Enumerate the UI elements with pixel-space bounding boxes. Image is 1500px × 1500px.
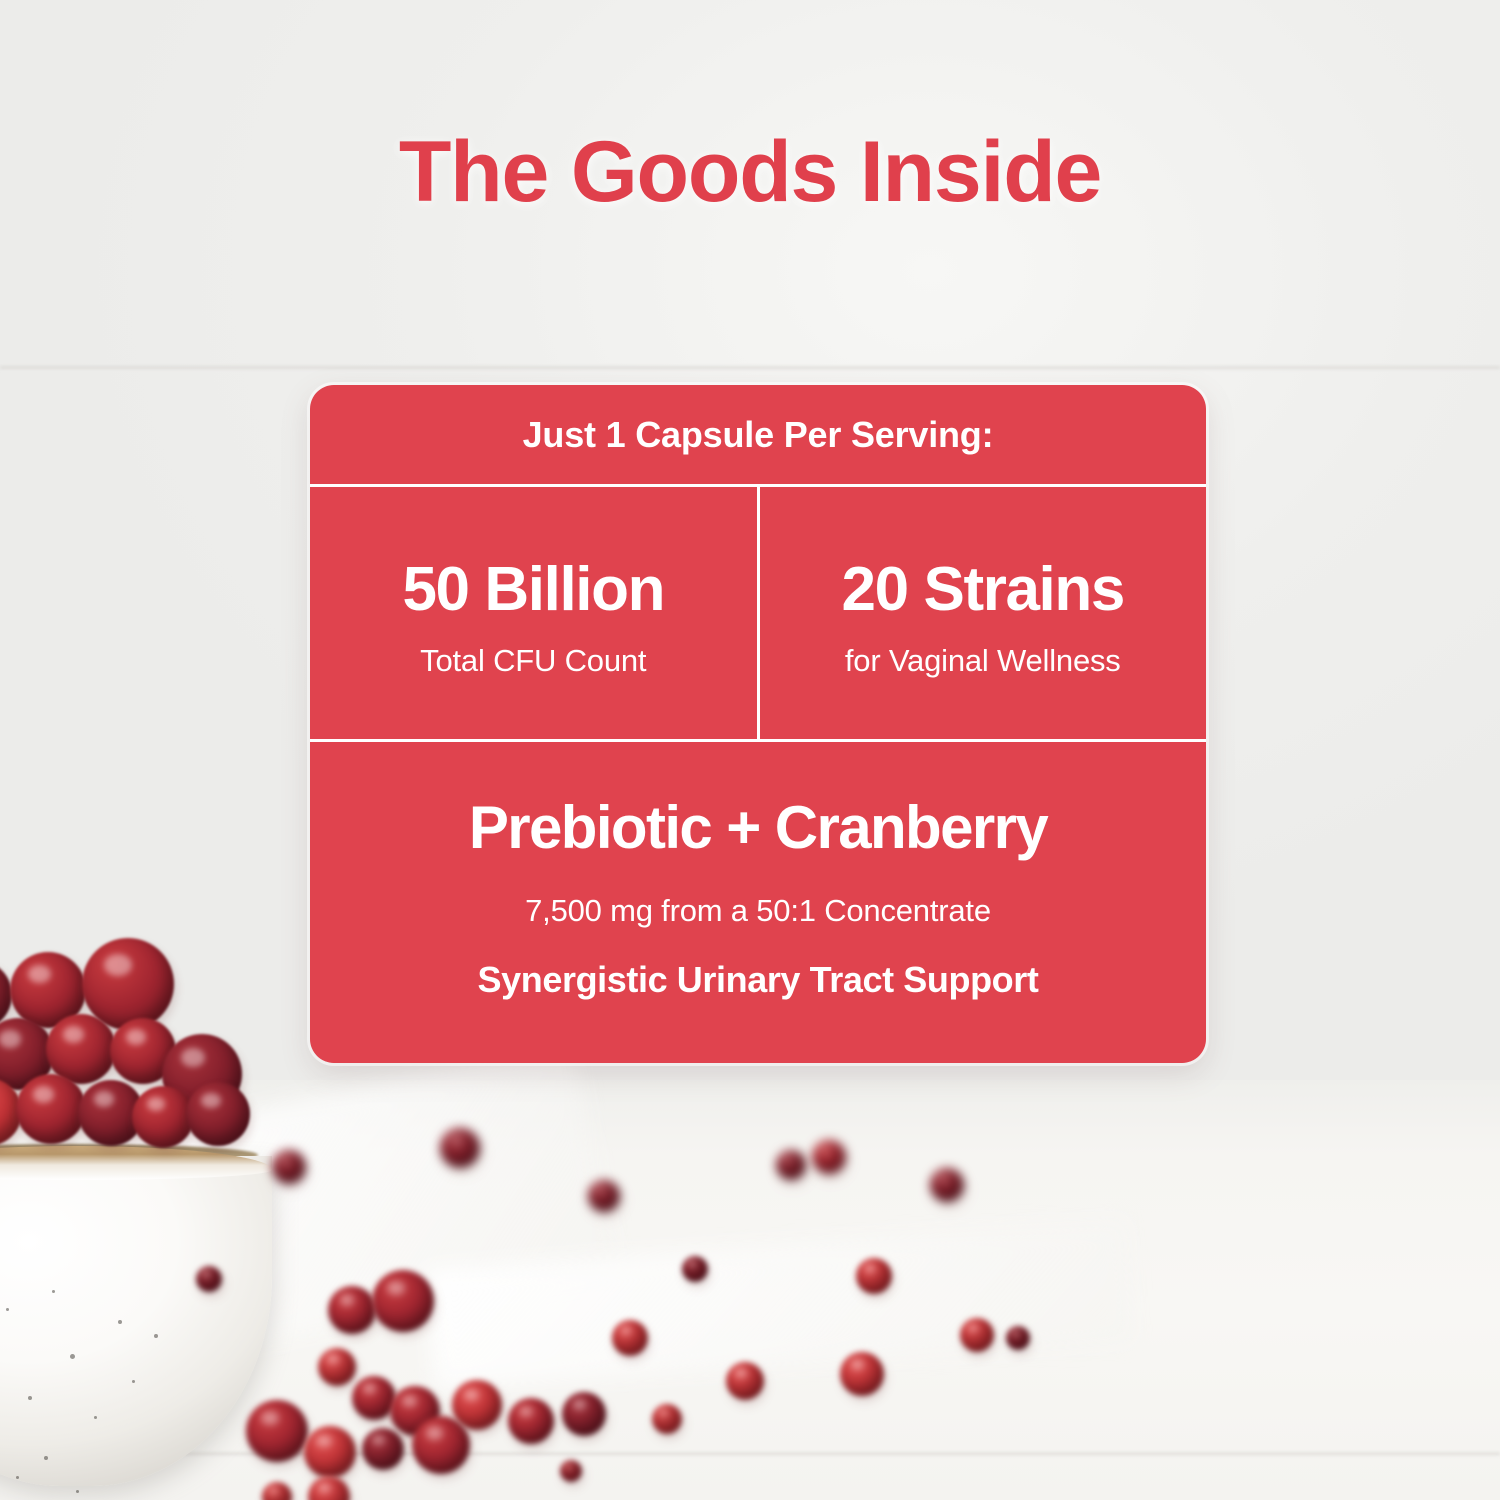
stat-cell-strains: 20 Strains for Vaginal Wellness: [760, 487, 1207, 739]
stat-value-strains: 20 Strains: [842, 557, 1124, 622]
page-title: The Goods Inside: [0, 128, 1500, 217]
highlight-tagline: Synergistic Urinary Tract Support: [478, 959, 1039, 1001]
infographic-content: The Goods Inside Just 1 Capsule Per Serv…: [0, 0, 1500, 1500]
stat-value-cfu: 50 Billion: [402, 557, 664, 622]
highlight-subtitle: 7,500 mg from a 50:1 Concentrate: [525, 893, 991, 929]
stats-row: 50 Billion Total CFU Count 20 Strains fo…: [310, 487, 1206, 742]
card-header: Just 1 Capsule Per Serving:: [310, 385, 1206, 487]
highlight-title: Prebiotic + Cranberry: [469, 796, 1047, 860]
highlight-row: Prebiotic + Cranberry 7,500 mg from a 50…: [310, 742, 1206, 1063]
stat-cell-cfu: 50 Billion Total CFU Count: [310, 487, 760, 739]
stat-label-cfu: Total CFU Count: [420, 643, 646, 679]
supplement-facts-card: Just 1 Capsule Per Serving: 50 Billion T…: [310, 385, 1206, 1063]
stat-label-strains: for Vaginal Wellness: [845, 643, 1121, 679]
